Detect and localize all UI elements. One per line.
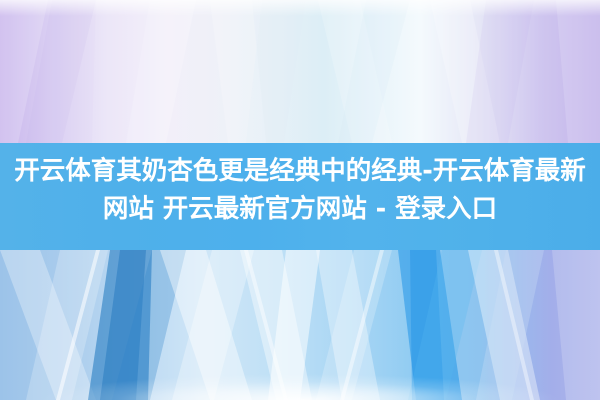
bottom-chevron-pattern [0, 250, 600, 400]
headline-line-2: 网站 开云最新官方网站 - 登录入口 [4, 190, 596, 228]
decorative-banner: 开云体育其奶杏色更是经典中的经典-开云体育最新 网站 开云最新官方网站 - 登录… [0, 0, 600, 400]
top-chevron-pattern [0, 0, 600, 143]
headline-line-1: 开云体育其奶杏色更是经典中的经典-开云体育最新 [4, 152, 596, 190]
banner-headline: 开云体育其奶杏色更是经典中的经典-开云体育最新 网站 开云最新官方网站 - 登录… [0, 152, 600, 228]
